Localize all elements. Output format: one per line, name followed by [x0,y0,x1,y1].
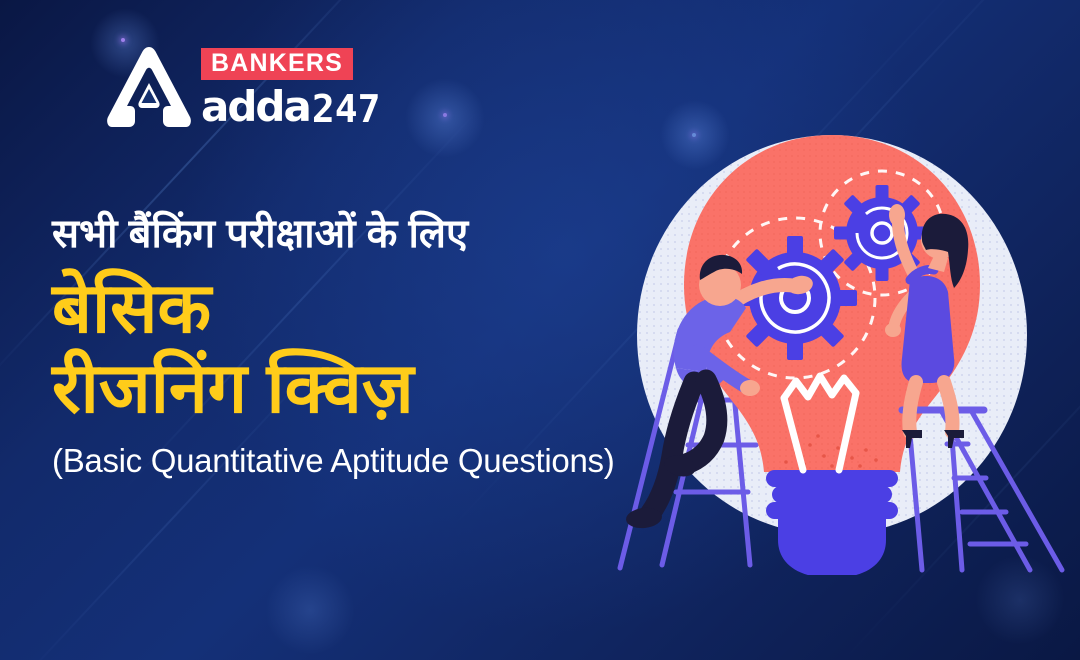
female-leg-back [909,382,916,432]
headline-subtitle-english: (Basic Quantitative Aptitude Questions) [52,442,672,480]
brand-logo[interactable]: BANKERS adda 247 [105,40,335,140]
adda247-triangle-logo-icon [105,45,193,135]
female-hand-raised [889,204,905,226]
headline-title-line-2: रीजनिंग क्विज़ [52,349,672,427]
male-hand-grip [740,380,760,396]
headline-block: सभी बैंकिंग परीक्षाओं के लिए बेसिक रीजनि… [52,212,672,480]
bankers-badge: BANKERS [201,48,353,80]
background-glow [265,565,355,655]
background-glow [405,78,485,158]
wordmark-number: 247 [312,90,381,128]
headline-title-line-1: बेसिक [52,269,672,347]
headline-subtitle-hindi: सभी बैंकिंग परीक्षाओं के लिए [52,212,672,257]
bulb-base [766,470,898,575]
wordmark-text: adda [201,86,310,128]
female-dress [902,276,955,383]
promo-banner: BANKERS adda 247 सभी बैंकिंग परीक्षाओं क… [0,0,1080,660]
logo-text-block: BANKERS adda 247 [201,48,380,128]
teamwork-lightbulb-idea-illustration [610,100,1080,575]
sparkle-dot [443,113,447,117]
adda247-wordmark: adda 247 [201,86,380,128]
